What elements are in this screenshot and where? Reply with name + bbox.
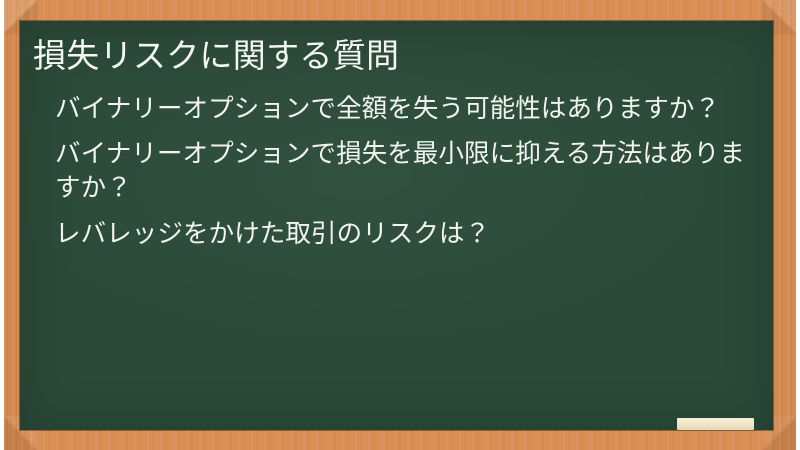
blackboard-content: 損失リスクに関する質問 バイナリーオプションで全額を失う可能性はありますか？ バ… (20, 21, 773, 430)
chalk-stick (677, 418, 754, 430)
page-title: 損失リスクに関する質問 (33, 35, 755, 77)
frame-stile-right (770, 0, 796, 450)
blackboard-slide: 損失リスクに関する質問 バイナリーオプションで全額を失う可能性はありますか？ バ… (0, 0, 800, 450)
list-item: バイナリーオプションで損失を最小限に抑える方法はありますか？ (55, 138, 745, 206)
blackboard-surface: 損失リスクに関する質問 バイナリーオプションで全額を失う可能性はありますか？ バ… (20, 21, 773, 430)
question-list: バイナリーオプションで全額を失う可能性はありますか？ バイナリーオプションで損失… (33, 93, 755, 253)
list-item: バイナリーオプションで全額を失う可能性はありますか？ (55, 93, 745, 127)
list-item: レバレッジをかけた取引のリスクは？ (55, 218, 745, 252)
